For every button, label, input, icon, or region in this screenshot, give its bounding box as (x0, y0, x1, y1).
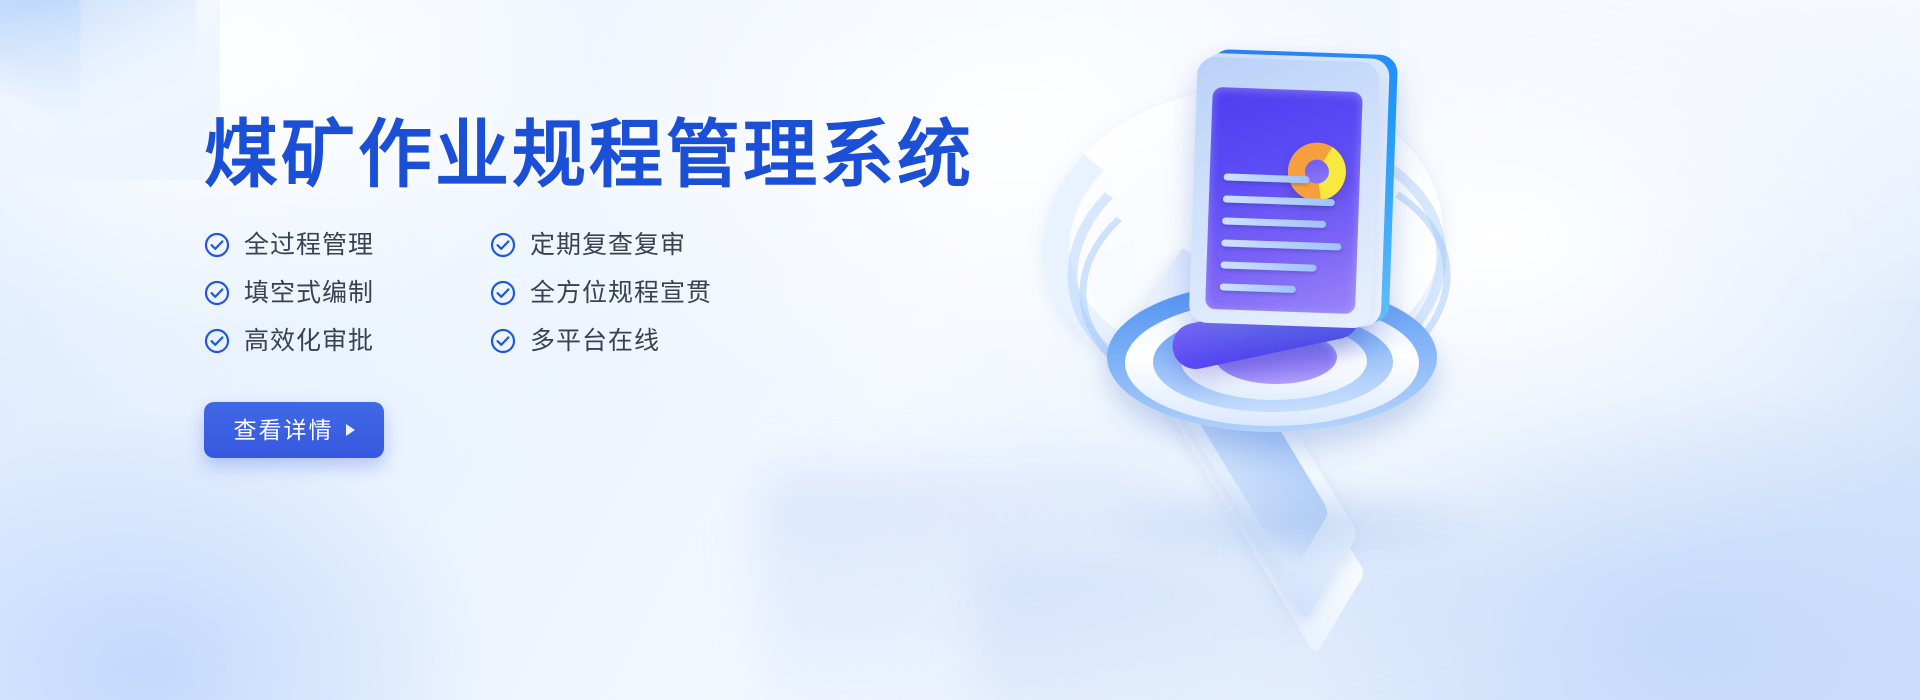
feature-list: 全过程管理 定期复查复审 填空式编制 (204, 232, 984, 354)
feature-label: 多平台在线 (530, 329, 660, 354)
card-text-line (1222, 217, 1326, 228)
donut-chart-icon (1287, 142, 1347, 202)
feature-label: 填空式编制 (244, 281, 374, 306)
check-circle-icon (490, 232, 516, 258)
feature-label: 定期复查复审 (530, 233, 686, 258)
3d-document-platform-illustration (975, 10, 1595, 570)
view-details-button[interactable]: 查看详情 (204, 402, 384, 458)
feature-item: 填空式编制 (204, 280, 490, 306)
feature-label: 全过程管理 (244, 233, 374, 258)
document-card (1188, 54, 1408, 341)
check-circle-icon (204, 328, 230, 354)
view-details-label: 查看详情 (234, 419, 334, 442)
illustration-shadow (1095, 480, 1495, 570)
feature-item: 全过程管理 (204, 232, 490, 258)
feature-label: 全方位规程宣贯 (530, 281, 712, 306)
cube-fade-overlay (0, 0, 220, 180)
card-text-line (1220, 283, 1296, 293)
blurred-slab-decoration-2 (980, 560, 1460, 700)
check-circle-icon (204, 232, 230, 258)
page-title: 煤矿作业规程管理系统 (204, 118, 984, 192)
hero-banner: 煤矿作业规程管理系统 全过程管理 定期复查复审 (0, 0, 1920, 700)
check-circle-icon (490, 280, 516, 306)
feature-label: 高效化审批 (244, 329, 374, 354)
feature-item: 定期复查复审 (490, 232, 984, 258)
card-front (1189, 56, 1380, 328)
feature-item: 全方位规程宣贯 (490, 280, 984, 306)
card-text-line (1220, 261, 1316, 271)
check-circle-icon (490, 328, 516, 354)
card-text-line (1221, 239, 1341, 250)
check-circle-icon (204, 280, 230, 306)
play-triangle-icon (346, 424, 355, 436)
hero-copy: 煤矿作业规程管理系统 全过程管理 定期复查复审 (204, 118, 984, 458)
feature-item: 高效化审批 (204, 328, 490, 354)
card-face (1205, 87, 1363, 314)
feature-item: 多平台在线 (490, 328, 984, 354)
